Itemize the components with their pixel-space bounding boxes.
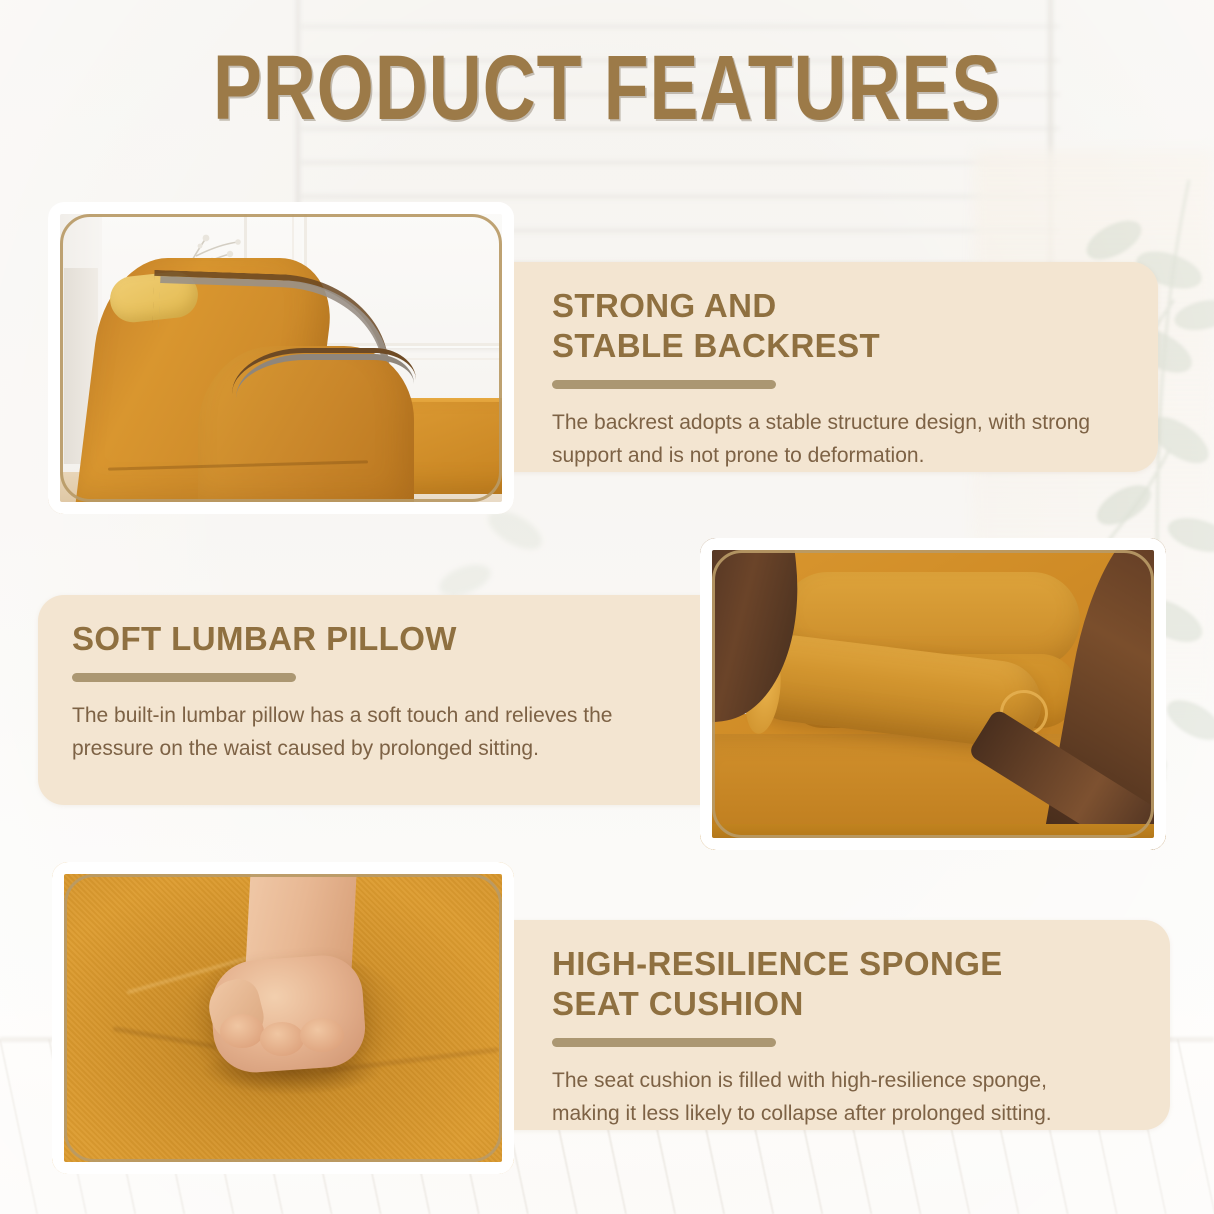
product-features-poster: PRODUCT FEATURES STRONG AND STABLE BACKR… [0,0,1214,1214]
feature-body-lumbar: The built-in lumbar pillow has a soft to… [72,699,612,765]
photo1-arm-piping [236,354,414,416]
feature-title-cushion: HIGH-RESILIENCE SPONGE SEAT CUSHION [552,944,1052,1024]
feature-title-backrest: STRONG AND STABLE BACKREST [552,286,1090,366]
feature-title-lumbar: SOFT LUMBAR PILLOW [72,619,612,659]
page-title: PRODUCT FEATURES [121,42,1092,134]
feature-card-lumbar-content: SOFT LUMBAR PILLOW The built-in lumbar p… [72,619,612,765]
feature-divider-backrest [552,380,776,389]
feature-photo-lumbar [700,538,1166,850]
feature-card-cushion-content: HIGH-RESILIENCE SPONGE SEAT CUSHION The … [552,944,1052,1130]
feature-photo-backrest-image [48,202,514,514]
feature-body-cushion: The seat cushion is filled with high-res… [552,1064,1052,1130]
feature-photo-cushion-image [52,862,514,1174]
photo3-knuckle-3 [300,1018,344,1052]
feature-divider-lumbar [72,673,296,682]
feature-body-backrest: The backrest adopts a stable structure d… [552,406,1090,472]
feature-photo-lumbar-image [700,538,1166,850]
photo3-knuckle-1 [220,1014,264,1048]
feature-divider-cushion [552,1038,776,1047]
feature-photo-backrest [48,202,514,514]
photo2-seat-front-edge [700,824,1166,850]
feature-card-backrest-content: STRONG AND STABLE BACKREST The backrest … [552,286,1090,472]
photo3-knuckle-2 [260,1022,304,1056]
feature-photo-cushion [52,862,514,1174]
photo3-floor-strip [52,1168,514,1174]
